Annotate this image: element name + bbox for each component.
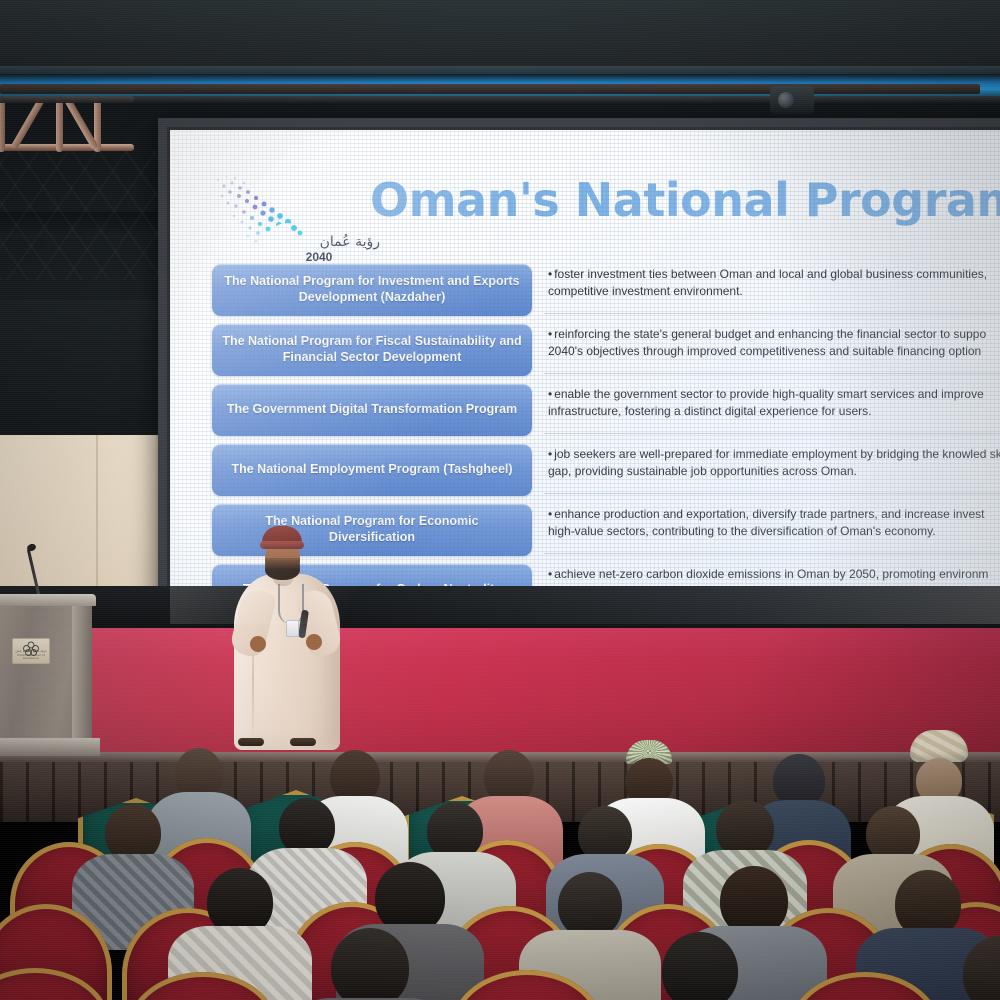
oman-vision-2040-logo-icon: رؤية عُمان 2040 OMAN VISION <box>208 172 340 264</box>
audience-head <box>662 932 738 1000</box>
presenter <box>228 524 346 746</box>
slide-header: رؤية عُمان 2040 OMAN VISION Oman's Natio… <box>170 148 1000 266</box>
podium-plaque: غرفة تجارة وصناعة عمان Oman Chamber of C… <box>12 638 50 664</box>
audience-chair <box>452 970 602 1000</box>
presenter-sandal <box>238 738 264 746</box>
audience-chair <box>0 968 110 1000</box>
ceiling-speaker-icon <box>770 86 814 114</box>
program-description: •enhance production and exportation, div… <box>544 506 1000 554</box>
presenter-sandal <box>290 738 316 746</box>
podium-base <box>0 738 100 756</box>
audience-member <box>940 936 1000 1000</box>
audience-member <box>640 932 760 1000</box>
conference-photo-scene: رؤية عُمان 2040 OMAN VISION Oman's Natio… <box>0 0 1000 1000</box>
audience-head <box>558 872 622 938</box>
program-name-text: The National Employment Program (Tashghe… <box>231 462 512 478</box>
program-name-pill: The National Program for Investment and … <box>212 264 532 316</box>
podium-side-panel <box>72 600 92 750</box>
program-name-pill: The National Employment Program (Tashghe… <box>212 444 532 496</box>
presenter-badge <box>286 620 299 637</box>
program-description: •enable the government sector to provide… <box>544 386 1000 434</box>
logo-arabic-text: رؤية عُمان <box>270 234 380 250</box>
audience-head <box>331 928 409 1000</box>
program-description: •reinforcing the state's general budget … <box>544 326 1000 374</box>
presenter-beard <box>265 558 300 580</box>
program-row: The National Program for Investment and … <box>170 260 1000 320</box>
lighting-truss <box>0 94 134 156</box>
program-row: The National Employment Program (Tashghe… <box>170 440 1000 500</box>
audience-head <box>963 936 1000 1000</box>
program-description: •foster investment ties between Oman and… <box>544 266 1000 314</box>
audience-chair <box>790 972 940 1000</box>
program-name-pill: The Government Digital Transformation Pr… <box>212 384 532 436</box>
program-description-text: enhance production and exportation, dive… <box>548 507 984 538</box>
audience-chair <box>128 972 278 1000</box>
program-row: The Government Digital Transformation Pr… <box>170 380 1000 440</box>
program-name-text: The Government Digital Transformation Pr… <box>227 402 517 418</box>
bullet-glyph: • <box>548 327 552 341</box>
truss-pipe-secondary <box>0 96 1000 103</box>
program-description-text: reinforcing the state's general budget a… <box>548 327 986 358</box>
stage-front-wall <box>0 586 1000 632</box>
program-name-text: The National Program for Investment and … <box>222 274 522 305</box>
presenter-kumma-cap <box>262 526 302 546</box>
bullet-glyph: • <box>548 507 552 521</box>
program-description-text: foster investment ties between Oman and … <box>548 267 987 298</box>
bullet-glyph: • <box>548 567 552 581</box>
program-name-text: The National Program for Fiscal Sustaina… <box>222 334 522 365</box>
program-description-text: job seekers are well-prepared for immedi… <box>548 447 1000 478</box>
stage-carpet-sheen <box>0 628 1000 760</box>
podium-top <box>0 594 96 606</box>
bullet-glyph: • <box>548 387 552 401</box>
bullet-glyph: • <box>548 267 552 281</box>
audience <box>0 756 1000 1000</box>
program-description-text: enable the government sector to provide … <box>548 387 984 418</box>
audience-member <box>310 928 430 1000</box>
presenter-right-hand <box>306 634 322 650</box>
slide-title: Oman's National Programs <box>370 176 1000 224</box>
program-name-pill: The National Program for Fiscal Sustaina… <box>212 324 532 376</box>
truss-pipe <box>0 84 980 94</box>
bullet-glyph: • <box>548 447 552 461</box>
presenter-left-hand <box>250 636 266 652</box>
program-description: •job seekers are well-prepared for immed… <box>544 446 1000 494</box>
program-row: The National Program for Fiscal Sustaina… <box>170 320 1000 380</box>
podium-plaque-text: غرفة تجارة وصناعة عمان Oman Chamber of C… <box>13 650 49 661</box>
